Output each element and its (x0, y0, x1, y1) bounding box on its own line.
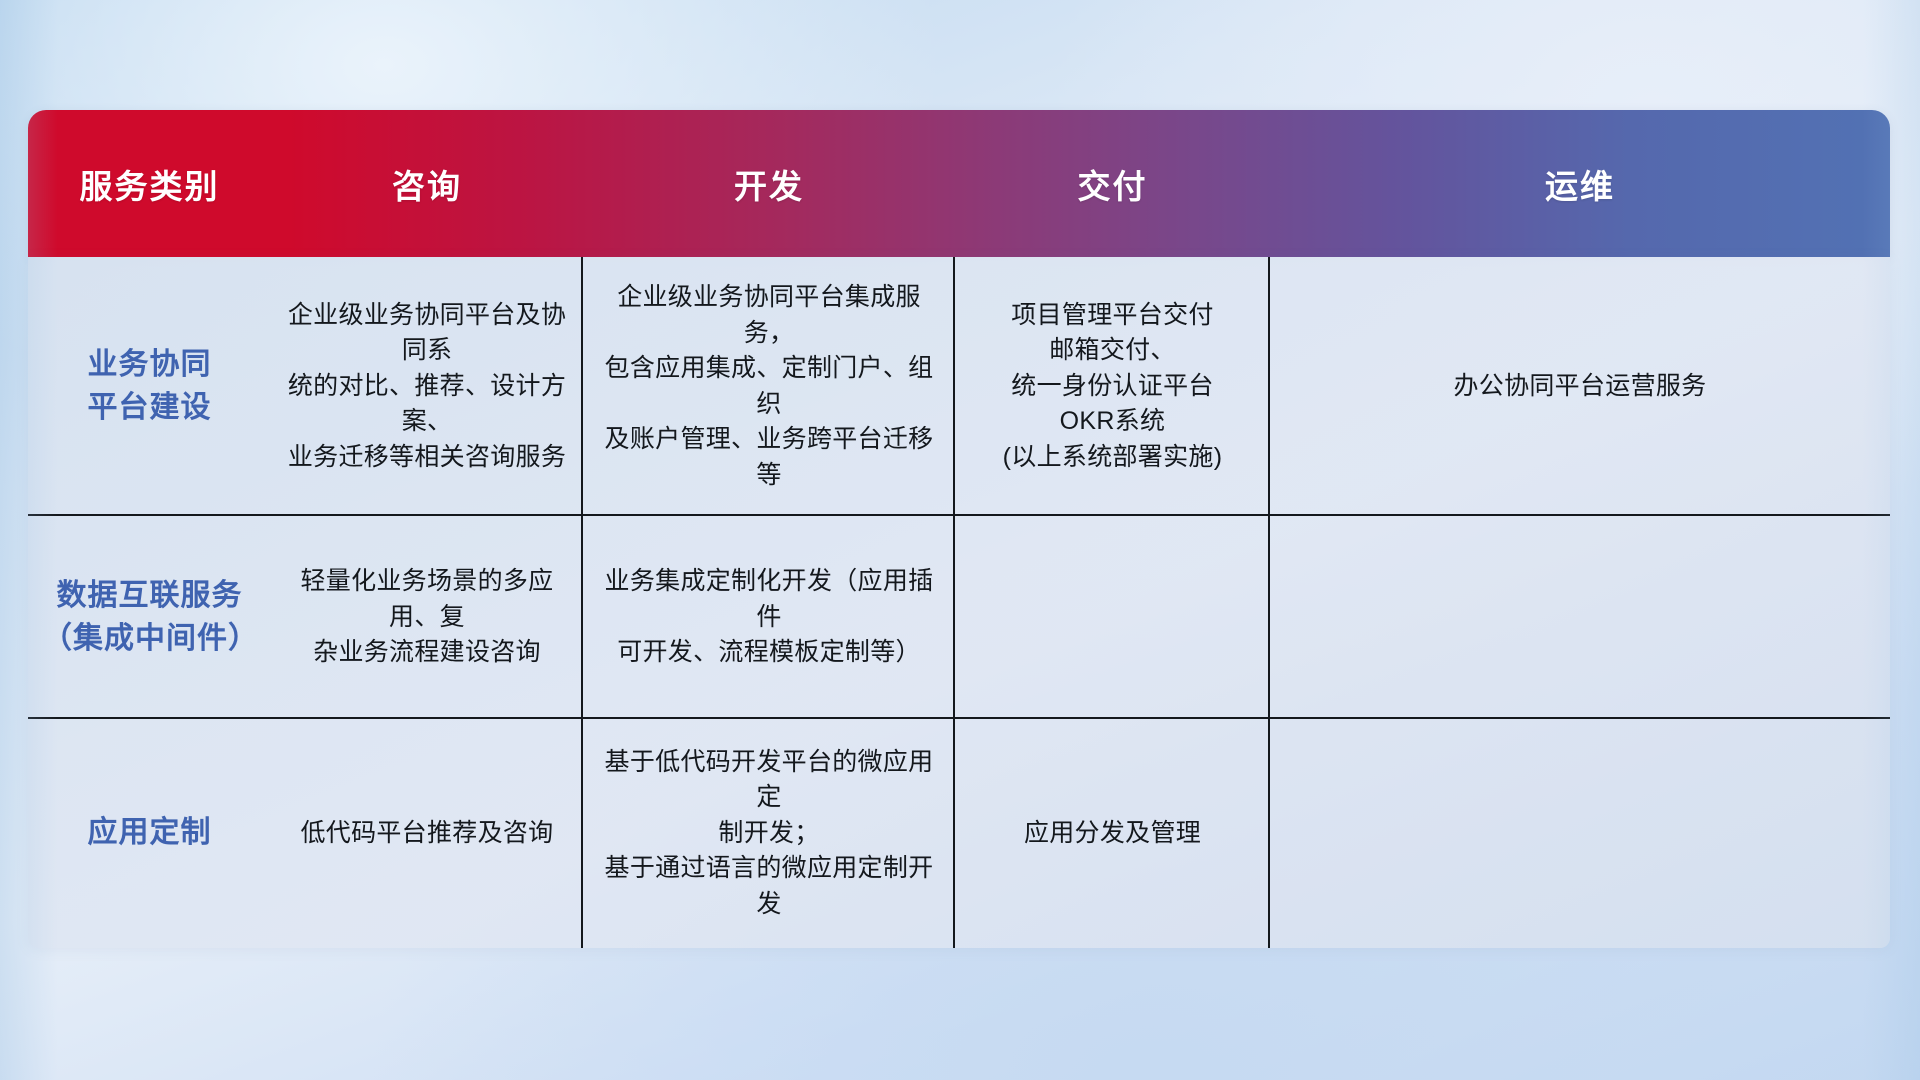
cell-operations: 办公协同平台运营服务 (1270, 257, 1890, 516)
table-body: 业务协同平台建设 企业级业务协同平台及协同系统的对比、推荐、设计方案、业务迁移等… (28, 257, 1890, 948)
table-row: 应用定制 低代码平台推荐及咨询 基于低代码开发平台的微应用定制开发；基于通过语言… (28, 719, 1890, 948)
cell-operations (1270, 516, 1890, 719)
cell-consulting: 企业级业务协同平台及协同系统的对比、推荐、设计方案、业务迁移等相关咨询服务 (271, 257, 583, 516)
category-label: 业务协同平台建设 (88, 344, 212, 429)
cell-text: 基于低代码开发平台的微应用定制开发；基于通过语言的微应用定制开发 (597, 745, 941, 923)
cell-development: 业务集成定制化开发（应用插件可开发、流程模板定制等） (583, 516, 955, 719)
table-row: 业务协同平台建设 企业级业务协同平台及协同系统的对比、推荐、设计方案、业务迁移等… (28, 257, 1890, 516)
column-header-development: 开发 (583, 160, 955, 208)
cell-text: 业务集成定制化开发（应用插件可开发、流程模板定制等） (597, 564, 941, 671)
cell-delivery: 项目管理平台交付邮箱交付、统一身份认证平台OKR系统(以上系统部署实施) (955, 257, 1270, 516)
cell-operations (1270, 719, 1890, 948)
column-header-category: 服务类别 (28, 160, 271, 208)
cell-text: 办公协同平台运营服务 (1453, 369, 1706, 405)
cell-development: 企业级业务协同平台集成服务，包含应用集成、定制门户、组织及账户管理、业务跨平台迁… (583, 257, 955, 516)
slide-canvas: 服务类别 咨询 开发 交付 运维 业务协同平台建设 企业级业务协同平台及协同系统… (0, 0, 1920, 1080)
column-header-consulting: 咨询 (271, 160, 583, 208)
cell-category: 数据互联服务（集成中间件） (28, 516, 271, 719)
cell-delivery: 应用分发及管理 (955, 719, 1270, 948)
table-row: 数据互联服务（集成中间件） 轻量化业务场景的多应用、复杂业务流程建设咨询 业务集… (28, 516, 1890, 719)
table-header-row: 服务类别 咨询 开发 交付 运维 (28, 110, 1890, 257)
cell-development: 基于低代码开发平台的微应用定制开发；基于通过语言的微应用定制开发 (583, 719, 955, 948)
column-header-operations: 运维 (1270, 160, 1890, 208)
cell-category: 业务协同平台建设 (28, 257, 271, 516)
category-label: 应用定制 (88, 812, 212, 855)
cell-consulting: 低代码平台推荐及咨询 (271, 719, 583, 948)
cell-consulting: 轻量化业务场景的多应用、复杂业务流程建设咨询 (271, 516, 583, 719)
cell-text: 企业级业务协同平台及协同系统的对比、推荐、设计方案、业务迁移等相关咨询服务 (285, 298, 569, 476)
cell-text: 低代码平台推荐及咨询 (300, 816, 553, 852)
service-matrix-table: 服务类别 咨询 开发 交付 运维 业务协同平台建设 企业级业务协同平台及协同系统… (28, 110, 1890, 948)
category-label: 数据互联服务（集成中间件） (42, 575, 257, 660)
cell-text: 项目管理平台交付邮箱交付、统一身份认证平台OKR系统(以上系统部署实施) (1003, 298, 1223, 476)
cell-category: 应用定制 (28, 719, 271, 948)
cell-text: 应用分发及管理 (1024, 816, 1201, 852)
cell-delivery (955, 516, 1270, 719)
cell-text: 企业级业务协同平台集成服务，包含应用集成、定制门户、组织及账户管理、业务跨平台迁… (597, 280, 941, 493)
column-header-delivery: 交付 (955, 160, 1270, 208)
cell-text: 轻量化业务场景的多应用、复杂业务流程建设咨询 (285, 564, 569, 671)
